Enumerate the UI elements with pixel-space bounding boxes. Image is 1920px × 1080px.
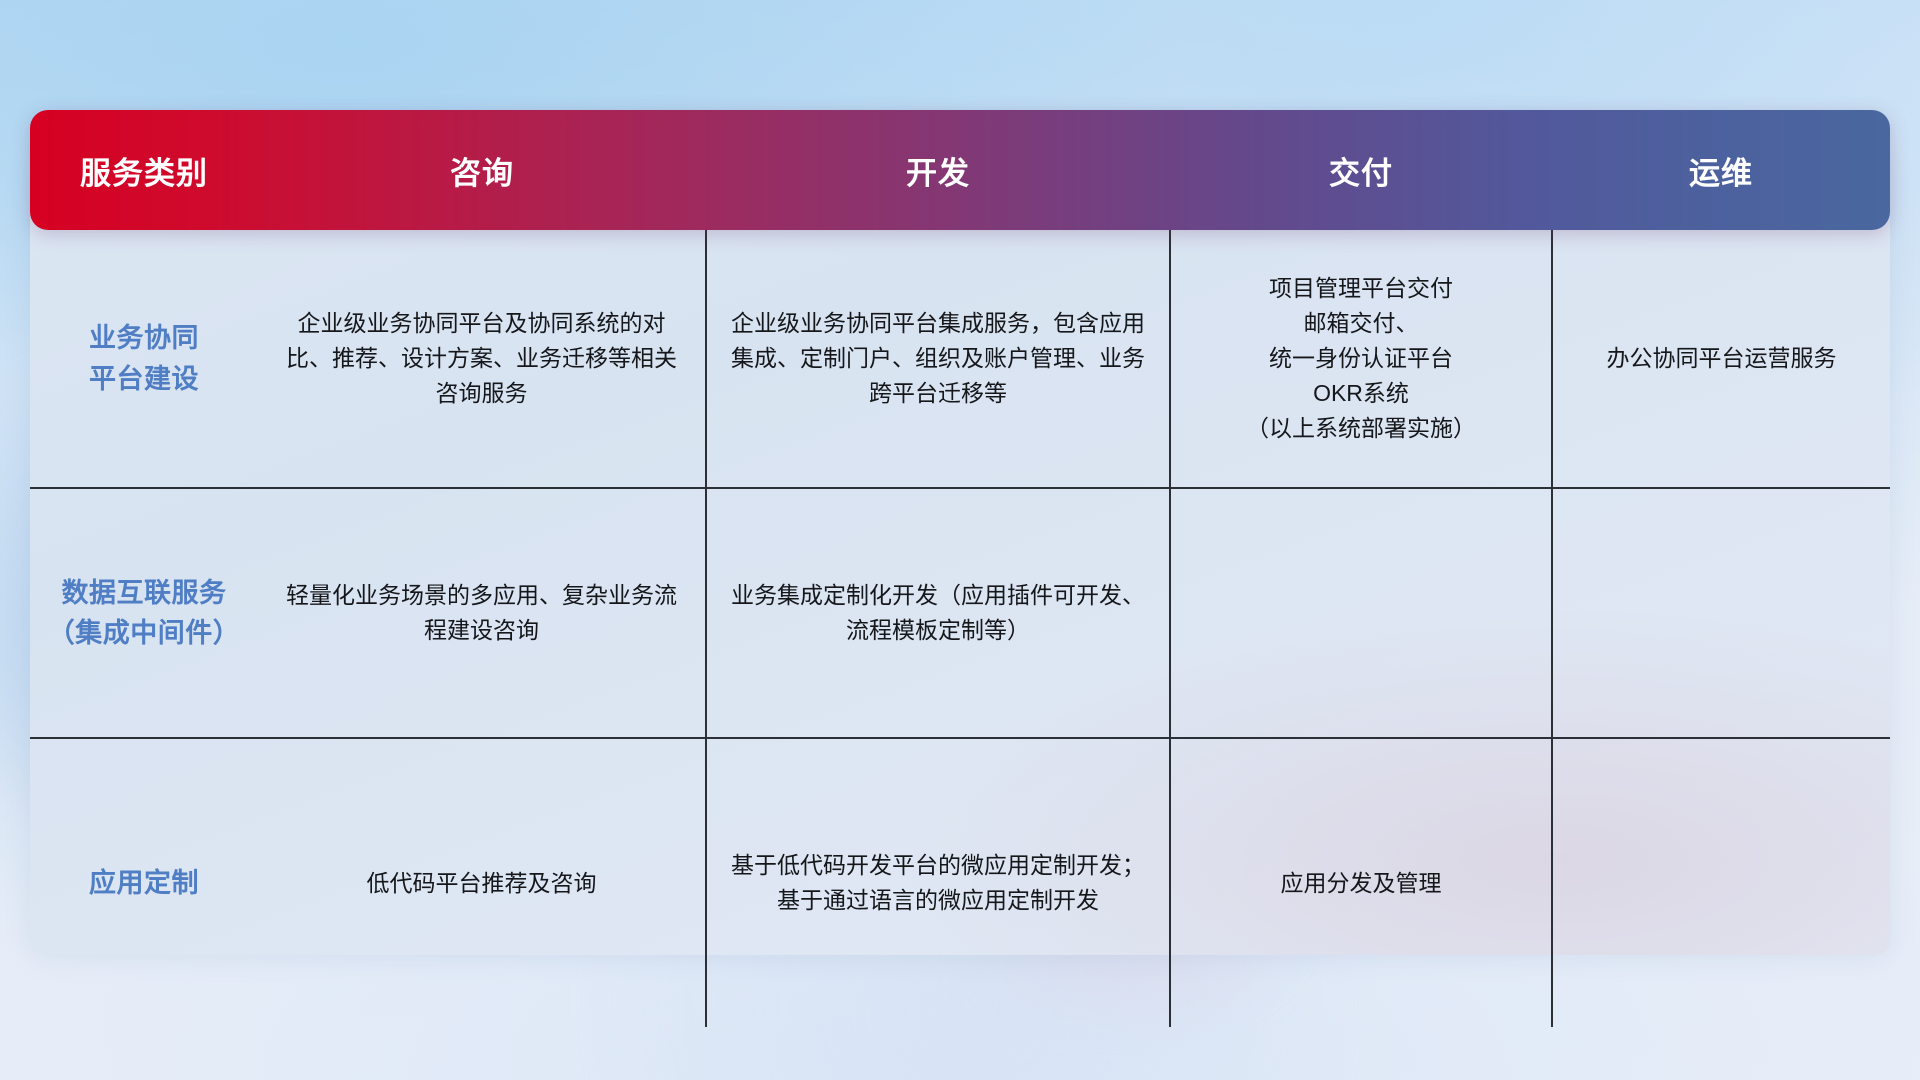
cell-development-1: 企业级业务协同平台集成服务，包含应用集成、定制门户、组织及账户管理、业务跨平台迁… bbox=[706, 230, 1170, 488]
table-row: 业务协同 平台建设 企业级业务协同平台及协同系统的对比、推荐、设计方案、业务迁移… bbox=[30, 230, 1890, 488]
cell-category-3: 应用定制 bbox=[30, 738, 258, 1027]
cell-consulting-1: 企业级业务协同平台及协同系统的对比、推荐、设计方案、业务迁移等相关咨询服务 bbox=[258, 230, 706, 488]
cell-operations-2 bbox=[1552, 488, 1890, 738]
table-head: 服务类别 咨询 开发 交付 运维 bbox=[30, 110, 1890, 230]
service-matrix-table: 服务类别 咨询 开发 交付 运维 业务协同 平台建设 企业级业务协同平台及协同系… bbox=[30, 110, 1890, 1027]
cell-consulting-3: 低代码平台推荐及咨询 bbox=[258, 738, 706, 1027]
table-row: 数据互联服务 （集成中间件） 轻量化业务场景的多应用、复杂业务流程建设咨询 业务… bbox=[30, 488, 1890, 738]
column-header-delivery: 交付 bbox=[1170, 110, 1552, 230]
column-header-category: 服务类别 bbox=[30, 110, 258, 230]
cell-category-2: 数据互联服务 （集成中间件） bbox=[30, 488, 258, 738]
table-row: 应用定制 低代码平台推荐及咨询 基于低代码开发平台的微应用定制开发； 基于通过语… bbox=[30, 738, 1890, 1027]
column-header-development: 开发 bbox=[706, 110, 1170, 230]
column-header-operations: 运维 bbox=[1552, 110, 1890, 230]
table-body: 业务协同 平台建设 企业级业务协同平台及协同系统的对比、推荐、设计方案、业务迁移… bbox=[30, 230, 1890, 1027]
service-matrix: 服务类别 咨询 开发 交付 运维 业务协同 平台建设 企业级业务协同平台及协同系… bbox=[30, 110, 1890, 955]
cell-category-1: 业务协同 平台建设 bbox=[30, 230, 258, 488]
cell-delivery-3: 应用分发及管理 bbox=[1170, 738, 1552, 1027]
cell-development-3: 基于低代码开发平台的微应用定制开发； 基于通过语言的微应用定制开发 bbox=[706, 738, 1170, 1027]
cell-delivery-2 bbox=[1170, 488, 1552, 738]
cell-delivery-1: 项目管理平台交付 邮箱交付、 统一身份认证平台 OKR系统 （以上系统部署实施） bbox=[1170, 230, 1552, 488]
header-row: 服务类别 咨询 开发 交付 运维 bbox=[30, 110, 1890, 230]
cell-operations-3 bbox=[1552, 738, 1890, 1027]
cell-operations-1: 办公协同平台运营服务 bbox=[1552, 230, 1890, 488]
cell-development-2: 业务集成定制化开发（应用插件可开发、流程模板定制等） bbox=[706, 488, 1170, 738]
column-header-consulting: 咨询 bbox=[258, 110, 706, 230]
cell-consulting-2: 轻量化业务场景的多应用、复杂业务流程建设咨询 bbox=[258, 488, 706, 738]
